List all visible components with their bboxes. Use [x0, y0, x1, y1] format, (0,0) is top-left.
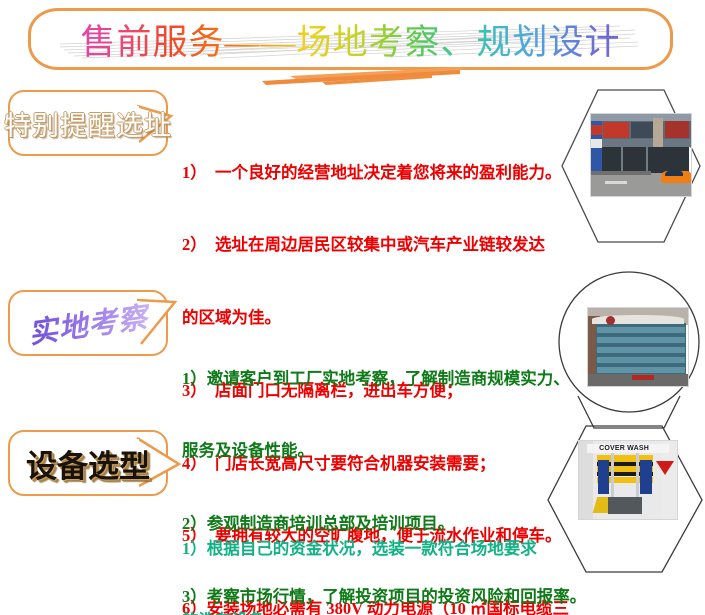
list-item: 1） 一个良好的经营地址决定着您将来的盈利能力。 [182, 161, 582, 185]
section-label-equipment-selection: 设备选型 [8, 430, 168, 496]
callout-bubble-equipment-selection: 设备选型 [8, 430, 178, 496]
car-wash-machine-photo: COVER WASH [578, 440, 678, 520]
callout-bubble-site-selection: 特别提醒选址 [8, 90, 178, 156]
list-item: 的洗车设备。 [182, 609, 582, 615]
section-label-site-selection: 特别提醒选址 [8, 90, 168, 156]
callout-bubble-site-visit: 实地考察 [8, 290, 178, 356]
section-body-equipment-selection: 1）根据自己的资金状况，选装一款符合场地要求 的洗车设备。 2）符合自己的经营定… [182, 488, 582, 615]
office-building-photo [587, 307, 689, 387]
car-wash-brand-text: COVER WASH [599, 444, 650, 453]
list-item: 服务及设备性能。 [182, 439, 592, 463]
list-item: 1）邀请客户到工厂实地考察，了解制造商规模实力、 [182, 367, 592, 391]
storefront-photo [590, 113, 692, 197]
page-title: 售前服务——场地考察、规划设计 [28, 8, 673, 70]
list-item: 1）根据自己的资金状况，选装一款符合场地要求 [182, 537, 582, 561]
list-item: 2） 选址在周边居民区较集中或汽车产业链较发达 [182, 233, 582, 257]
slide-canvas: 售前服务——场地考察、规划设计 特别提醒选址 1） 一个良好的经营地址决定着您将… [0, 0, 705, 615]
